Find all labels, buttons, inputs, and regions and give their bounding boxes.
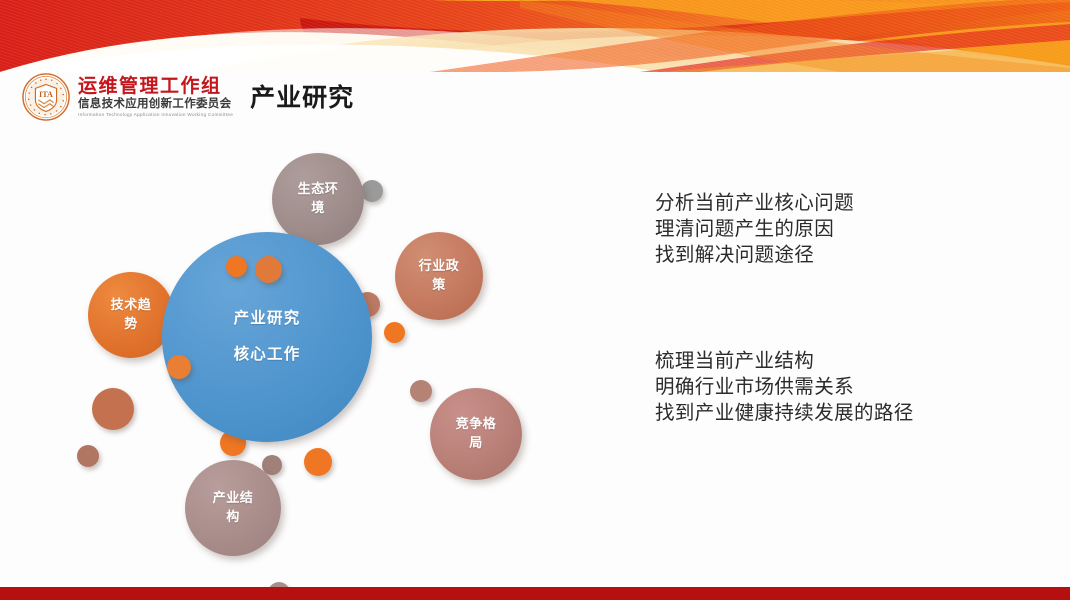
bubble-label-line1: 竞争格 [456,416,497,431]
accent-dot-orange-on-center-right [255,256,282,283]
bubble-label-line2: 局 [469,435,483,450]
svg-text:ITA: ITA [39,90,53,99]
header-ribbon-banner [0,0,1070,72]
bubble-label-line2: 境 [311,200,325,215]
bubble-label-line2: 势 [124,316,138,331]
accent-dot-orange-bottom-right [304,448,332,476]
description-line: 找到产业健康持续发展的路径 [655,400,914,426]
footer-bar [0,587,1070,600]
slide-canvas: ITA 运维管理工作组 信息技术应用创新工作委员会 Information Te… [0,0,1070,600]
description-block-one: 分析当前产业核心问题 理清问题产生的原因 找到解决问题途径 [655,190,854,268]
page-title: 产业研究 [250,78,354,116]
description-line: 梳理当前产业结构 [655,348,914,374]
center-label-line1: 产业研究 [234,310,301,327]
description-line: 分析当前产业核心问题 [655,190,854,216]
ribbon-wave-graphic [0,0,1070,72]
organization-name-block: 运维管理工作组 信息技术应用创新工作委员会 Information Techno… [78,76,233,119]
bubble-label-line1: 生态环 [298,181,339,196]
description-line: 理清问题产生的原因 [655,216,854,242]
bubble-technology-trend[interactable]: 技术趋 势 [88,272,174,358]
accent-dot-orange-on-center-left [226,256,247,277]
bubble-label-line2: 构 [226,509,240,524]
bubble-industrial-structure[interactable]: 产业结 构 [185,460,281,556]
org-name-cn: 运维管理工作组 [78,77,233,97]
center-label-line2: 核心工作 [234,346,301,363]
org-name-en: Information Technology Application Innov… [78,110,233,118]
accent-dot-orange-on-center-lower [167,355,191,379]
accent-dot-gray-top [361,180,383,202]
accent-dot-terracotta-left [92,388,134,430]
bubble-label-line2: 策 [432,277,446,292]
accent-dot-mauve-mid-right [410,380,432,402]
description-block-two: 梳理当前产业结构 明确行业市场供需关系 找到产业健康持续发展的路径 [655,348,914,426]
bubble-competitive-landscape[interactable]: 竞争格 局 [430,388,522,480]
org-subname-cn: 信息技术应用创新工作委员会 [78,97,233,111]
bubble-diagram: 生态环 境 行业政 策 技术趋 势 竞争格 局 产业结 [40,130,600,560]
description-line: 找到解决问题途径 [655,242,854,268]
bubble-label-line1: 技术趋 [111,297,152,312]
bubble-industry-policy[interactable]: 行业政 策 [395,232,483,320]
accent-dot-orange-right [384,322,405,343]
accent-dot-terracotta-small-left [77,445,99,467]
ita-seal-logo-icon: ITA [22,73,70,121]
bubble-label-line1: 产业结 [213,490,254,505]
bubble-label-line1: 行业政 [419,258,460,273]
bubble-ecological-environment[interactable]: 生态环 境 [272,153,364,245]
title-row: ITA 运维管理工作组 信息技术应用创新工作委员会 Information Te… [22,70,354,124]
description-line: 明确行业市场供需关系 [655,374,914,400]
